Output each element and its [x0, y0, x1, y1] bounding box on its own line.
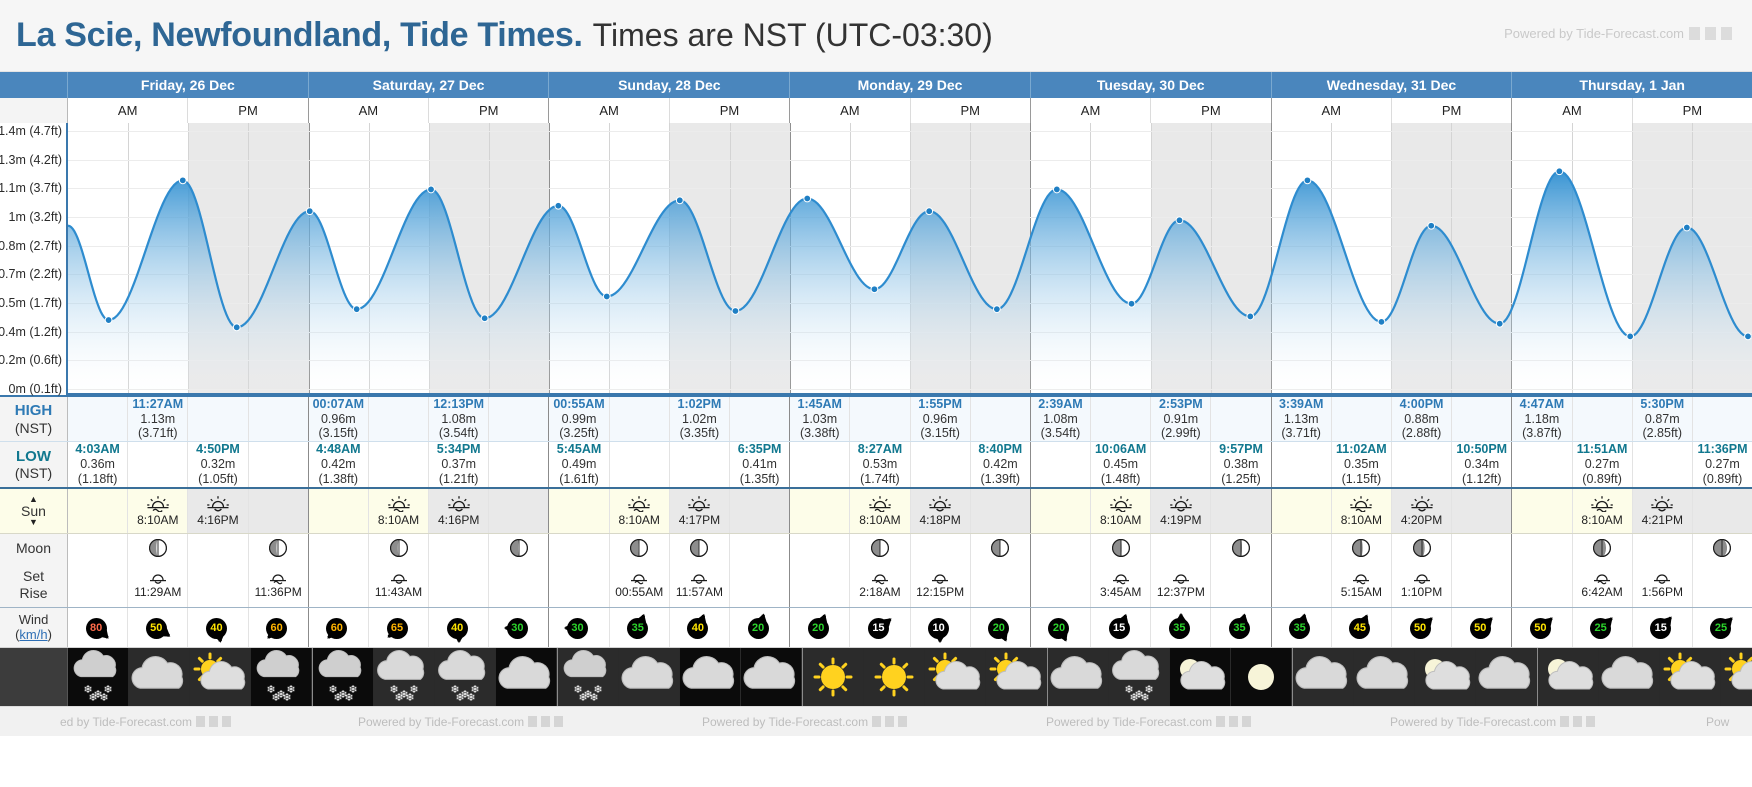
moon-phase-day-5: [1272, 534, 1513, 562]
moon-setrise-cell: 12:15PM: [911, 562, 971, 607]
moon-row-label: Moon: [0, 534, 68, 562]
day-header-5: Wednesday, 31 Dec: [1272, 72, 1513, 98]
wind-badge: 40: [195, 613, 241, 643]
sunrise-icon: [1348, 495, 1374, 512]
footer-credit-1: ed by Tide-Forecast.com: [60, 715, 231, 729]
moon-phase-icon: [509, 538, 529, 558]
tide-curve-plot: [68, 123, 1752, 395]
tide-time: 4:03AM: [75, 442, 119, 457]
tide-height-m: 1.08m: [1043, 412, 1078, 427]
moon-setrise-cell: 2:18AM: [850, 562, 910, 607]
sun-cell: [309, 489, 369, 533]
wind-speed-badge: 35: [1169, 618, 1190, 639]
wind-speed-badge: 20: [748, 618, 769, 639]
sun-cell: 8:10AM: [1332, 489, 1392, 533]
snow-icon: ❄❄❄❄❄: [313, 649, 373, 705]
low-tide-marker: [105, 317, 112, 324]
high-tide-day-4: 2:39AM1.08m(3.54ft)2:53PM0.91m(2.99ft): [1031, 397, 1272, 441]
moonrise-icon: [1349, 570, 1373, 585]
tide-time: 11:36PM: [1697, 442, 1747, 457]
wind-cell: 20: [790, 608, 850, 647]
moon-setrise-cell: 11:36PM: [249, 562, 308, 607]
sun-cell: [790, 489, 850, 533]
wind-cell: 60: [309, 608, 369, 647]
tide-height-ft: (2.99ft): [1161, 426, 1201, 441]
tide-time: 1:02PM: [678, 397, 722, 412]
day-header-row: Friday, 26 DecSaturday, 27 DecSunday, 28…: [0, 72, 1752, 98]
tide-time: 5:34PM: [437, 442, 481, 457]
moonset-icon: [928, 570, 952, 585]
wind-cell: 80: [68, 608, 128, 647]
snow-icon: ❄❄❄❄❄: [68, 649, 128, 705]
weather-cell: [1048, 648, 1109, 706]
tide-height-m: 0.49m: [562, 457, 597, 472]
cloud-icon: [619, 649, 679, 705]
sun-label-text: Sun: [21, 504, 46, 518]
moonset-icon: [146, 570, 170, 585]
cloud-icon: [1599, 649, 1659, 705]
moonset-icon: [1169, 570, 1193, 585]
moon-phase-cell: [730, 534, 789, 562]
low-tide-marker: [481, 315, 488, 322]
sun-cell: [1512, 489, 1572, 533]
ampm-cell-pm: PM: [911, 98, 1030, 123]
sun-cell: [1272, 489, 1332, 533]
low-tide-row: LOW (NST) 4:03AM0.36m(1.18ft)4:50PM0.32m…: [0, 442, 1752, 489]
moonset-icon: [1650, 570, 1674, 585]
low-tide-marker: [1247, 313, 1254, 320]
high-tide-row: HIGH (NST) 11:27AM1.13m(3.71ft)00:07AM0.…: [0, 395, 1752, 442]
weather-cell: ❄❄❄❄❄: [1109, 648, 1170, 706]
cloud-snow-icon: ❄❄❄❄❄: [374, 649, 434, 705]
moon-setrise-cell: [1693, 562, 1752, 607]
high-tide-label: HIGH (NST): [0, 397, 68, 441]
low-tide-marker: [603, 293, 610, 300]
weather-day-0: ❄❄❄❄❄❄❄❄❄❄: [68, 648, 313, 706]
day-header-6: Thursday, 1 Jan: [1512, 72, 1752, 98]
sun-cell: [1452, 489, 1511, 533]
tide-height-ft: (3.71ft): [1281, 426, 1321, 441]
sun-time: 8:10AM: [1341, 513, 1382, 527]
moon-setrise-cell: 5:15AM: [1332, 562, 1392, 607]
wind-cell: 35: [1211, 608, 1270, 647]
high-tide-marker: [926, 208, 933, 215]
wind-speed-badge: 20: [808, 618, 829, 639]
tide-time: 8:27AM: [858, 442, 902, 457]
low-tide-marker: [993, 306, 1000, 313]
wind-cell: 35: [610, 608, 670, 647]
tide-time: 10:50PM: [1456, 442, 1507, 457]
weather-cell: [190, 648, 251, 706]
moon-phase-cell: [610, 534, 670, 562]
wind-speed-badge: 50: [146, 618, 167, 639]
tide-height-ft: (2.85ft): [1642, 426, 1682, 441]
moon-phase-icon: [389, 538, 409, 558]
moon-phase-cell: [549, 534, 609, 562]
cloud-snow-icon: ❄❄❄❄❄: [1109, 649, 1169, 705]
moon-time: 11:29AM: [134, 585, 181, 599]
wind-badge: 45: [1338, 613, 1384, 643]
moonrise-icon: [627, 570, 651, 585]
weather-cell: ❄❄❄❄❄: [558, 648, 619, 706]
high-tide-cell: [369, 397, 429, 441]
high-tide-marker: [555, 202, 562, 209]
y-axis-tick-5: 0.7m (2.2ft): [0, 267, 62, 281]
wind-badge: 15: [1098, 613, 1144, 643]
sun-time: 8:10AM: [137, 513, 178, 527]
ampm-cell-pm: PM: [1151, 98, 1270, 123]
wind-cell: 25: [1693, 608, 1752, 647]
wind-day-1: 60654030: [309, 608, 550, 647]
moon-time: 2:18AM: [859, 585, 900, 599]
low-tide-cell: [790, 442, 850, 487]
weather-cell: [619, 648, 680, 706]
powered-by-text: Powered by Tide-Forecast.com: [1504, 26, 1684, 41]
wind-speed-badge: 10: [928, 618, 949, 639]
tide-height-m: 0.41m: [742, 457, 777, 472]
cloud-snow-icon: ❄❄❄❄❄: [435, 649, 495, 705]
sun-time: 8:10AM: [1581, 513, 1622, 527]
low-tide-marker: [1128, 300, 1135, 307]
wind-badge: 20: [737, 613, 783, 643]
ampm-group-6: AMPM: [1512, 98, 1752, 123]
low-tide-marker: [871, 286, 878, 293]
wind-badge: 30: [556, 613, 602, 643]
low-tide-cell: 10:50PM0.34m(1.12ft): [1452, 442, 1511, 487]
moon-phase-icon: [1111, 538, 1131, 558]
high-tide-day-5: 3:39AM1.13m(3.71ft)4:00PM0.88m(2.88ft): [1272, 397, 1513, 441]
cloud-icon: [741, 649, 801, 705]
moon-setrise-cell: 3:45AM: [1091, 562, 1151, 607]
svg-text:❄: ❄: [1140, 691, 1149, 704]
weather-day-2: ❄❄❄❄❄: [558, 648, 803, 706]
moon-phase-icon: [1412, 538, 1432, 558]
tide-time: 4:48AM: [316, 442, 360, 457]
tide-height-ft: (1.12ft): [1462, 472, 1502, 487]
tide-height-m: 0.37m: [441, 457, 476, 472]
weather-row-label: [0, 648, 68, 706]
wind-day-6: 50251525: [1512, 608, 1752, 647]
weather-cell: [1293, 648, 1354, 706]
wind-speed-badge: 15: [1109, 618, 1130, 639]
low-tide-cell: [911, 442, 971, 487]
wind-badge: 35: [1158, 613, 1204, 643]
high-tide-cell: [188, 397, 248, 441]
tide-height-ft: (3.35ft): [680, 426, 720, 441]
cloud-icon: [1048, 649, 1108, 705]
high-tide-marker: [428, 186, 435, 193]
moon-setrise-day-0: 11:29AM11:36PM: [68, 562, 309, 607]
sun-time: 4:19PM: [1160, 513, 1201, 527]
low-tide-cell: [1633, 442, 1693, 487]
weather-cell: ❄❄❄❄❄: [374, 648, 435, 706]
svg-text:❄: ❄: [578, 691, 587, 704]
low-tide-marker: [1745, 333, 1752, 340]
moon-phase-icon: [990, 538, 1010, 558]
moon-setrise-cell: 11:43AM: [369, 562, 429, 607]
tide-time: 10:06AM: [1095, 442, 1146, 457]
moon-phase-icon: [1351, 538, 1371, 558]
tide-height-m: 1.18m: [1525, 412, 1560, 427]
tide-height-m: 0.91m: [1163, 412, 1198, 427]
sun-cell: 8:10AM: [850, 489, 910, 533]
sunrise-icon: [145, 495, 171, 512]
sunrise-icon: [1108, 495, 1134, 512]
moon-time: 00:55AM: [615, 585, 663, 599]
tide-height-m: 0.36m: [80, 457, 115, 472]
sun-time: 4:21PM: [1642, 513, 1683, 527]
moon-phase-day-3: [790, 534, 1031, 562]
tide-time: 3:39AM: [1279, 397, 1323, 412]
sun-cell: [971, 489, 1030, 533]
weather-day-4: ❄❄❄❄❄: [1048, 648, 1293, 706]
ampm-cell-am: AM: [549, 98, 669, 123]
low-tide-cell: [1392, 442, 1452, 487]
tide-height-ft: (0.89ft): [1703, 472, 1743, 487]
moonset-icon: [387, 570, 411, 585]
moon-phase-day-1: [309, 534, 550, 562]
moonrise-icon: [868, 570, 892, 585]
moon-setrise-day-2: 00:55AM11:57AM: [549, 562, 790, 607]
ampm-group-2: AMPM: [549, 98, 790, 123]
wind-day-4: 20153535: [1031, 608, 1272, 647]
wind-label-main: Wind: [19, 613, 49, 628]
moon-setrise-cell: 1:10PM: [1392, 562, 1452, 607]
high-label-sub: (NST): [15, 420, 52, 436]
moon-time: 11:43AM: [375, 585, 422, 599]
moon-phase-icon: [870, 538, 890, 558]
moon-setrise-cell: [1211, 562, 1270, 607]
wind-cell: 50: [1512, 608, 1572, 647]
moon-time: 12:15PM: [916, 585, 964, 599]
tide-time: 00:07AM: [313, 397, 364, 412]
high-tide-marker: [1053, 186, 1060, 193]
svg-text:❄: ❄: [333, 691, 342, 704]
sun-day-6: 8:10AM4:21PM: [1512, 489, 1752, 533]
tide-height-m: 0.27m: [1585, 457, 1620, 472]
tide-height-ft: (1.48ft): [1101, 472, 1141, 487]
logo-square-icon: [1721, 27, 1732, 40]
tide-time: 4:47AM: [1520, 397, 1564, 412]
wind-speed-badge: 65: [387, 618, 408, 639]
moon-cloud-icon: [1170, 649, 1230, 705]
tide-height-m: 0.32m: [201, 457, 236, 472]
tide-height-m: 0.96m: [321, 412, 356, 427]
weather-cell: [1660, 648, 1721, 706]
moon-phase-cell: [1693, 534, 1752, 562]
moon-time: 11:36PM: [255, 585, 302, 599]
ampm-group-5: AMPM: [1272, 98, 1513, 123]
weather-cell: [803, 648, 864, 706]
low-tide-cell: [489, 442, 548, 487]
high-tide-cell: [971, 397, 1030, 441]
svg-text:❄: ❄: [282, 691, 291, 704]
ampm-cell-pm: PM: [670, 98, 789, 123]
wind-speed-badge: 30: [507, 618, 528, 639]
low-tide-day-2: 5:45AM0.49m(1.61ft)6:35PM0.41m(1.35ft): [549, 442, 790, 487]
wind-speed-badge: 20: [988, 618, 1009, 639]
high-tide-cell: 5:30PM0.87m(2.85ft): [1633, 397, 1693, 441]
moon-setrise-cell: [790, 562, 850, 607]
wind-cell: 25: [1573, 608, 1633, 647]
svg-text:❄: ❄: [589, 691, 598, 704]
ampm-group-4: AMPM: [1031, 98, 1272, 123]
y-axis-tick-4: 0.8m (2.7ft): [0, 239, 62, 253]
moon-phase-day-4: [1031, 534, 1272, 562]
cloud-icon: [1293, 649, 1353, 705]
high-tide-marker: [1683, 224, 1690, 231]
wind-speed-badge: 30: [567, 618, 588, 639]
high-tide-marker: [179, 177, 186, 184]
high-tide-cell: [249, 397, 308, 441]
y-axis-tick-9: 0m (0.1ft): [9, 382, 63, 396]
moon-phase-day-6: [1512, 534, 1752, 562]
sun-cell: [549, 489, 609, 533]
low-tide-cell: 8:27AM0.53m(1.74ft): [850, 442, 910, 487]
triangle-down-icon: ▼: [29, 518, 38, 527]
weather-cell: ❄❄❄❄❄: [251, 648, 312, 706]
wind-units: (km/h): [15, 628, 52, 643]
high-tide-day-2: 00:55AM0.99m(3.25ft)1:02PM1.02m(3.35ft): [549, 397, 790, 441]
moon-time: 3:45AM: [1100, 585, 1141, 599]
sun-row-label: ▲ Sun ▼: [0, 489, 68, 533]
wind-badge: 10: [917, 613, 963, 643]
ampm-cell-am: AM: [790, 98, 910, 123]
sun-time: 4:16PM: [438, 513, 479, 527]
wind-speed-badge: 40: [687, 618, 708, 639]
moon-phase-icon: [689, 538, 709, 558]
sun-cell: 4:18PM: [911, 489, 971, 533]
weather-day-1: ❄❄❄❄❄❄❄❄❄❄❄❄❄❄❄: [313, 648, 558, 706]
moon-setrise-cell: 11:29AM: [128, 562, 188, 607]
high-tide-cell: 2:53PM0.91m(2.99ft): [1151, 397, 1211, 441]
wind-cell: 30: [489, 608, 548, 647]
sun-cell: 8:10AM: [1573, 489, 1633, 533]
wind-speed-badge: 35: [627, 618, 648, 639]
high-tide-cell: 1:55PM0.96m(3.15ft): [911, 397, 971, 441]
wind-cell: 15: [850, 608, 910, 647]
moon-setrise-day-6: 6:42AM1:56PM: [1512, 562, 1752, 607]
tide-height-m: 0.27m: [1705, 457, 1740, 472]
day-header-3: Monday, 29 Dec: [790, 72, 1031, 98]
high-tide-cell: [1452, 397, 1511, 441]
sunset-icon: [1409, 495, 1435, 512]
y-axis-tick-6: 0.5m (1.7ft): [0, 296, 62, 310]
wind-cell: 60: [249, 608, 308, 647]
low-tide-label: LOW (NST): [0, 442, 68, 487]
sun-cloud-icon: [190, 649, 250, 705]
wind-row-label: Wind (km/h): [0, 608, 68, 647]
tide-time: 1:55PM: [918, 397, 962, 412]
wind-badge: 40: [436, 613, 482, 643]
sun-icon: [803, 649, 863, 705]
moon-setrise-cell: [1452, 562, 1511, 607]
tide-time: 12:13PM: [433, 397, 484, 412]
wind-cell: 15: [1091, 608, 1151, 647]
wind-cell: 35: [1151, 608, 1211, 647]
weather-cell: [1599, 648, 1660, 706]
ampm-cell-am: AM: [1031, 98, 1151, 123]
footer-credit-6: Pow: [1706, 715, 1729, 729]
page-header: La Scie, Newfoundland, Tide Times. Times…: [0, 0, 1752, 72]
ampm-cell-pm: PM: [429, 98, 548, 123]
tide-height-m: 1.13m: [140, 412, 175, 427]
tide-height-m: 1.02m: [682, 412, 717, 427]
moon-phase-icon: [1712, 538, 1732, 558]
ampm-group-0: AMPM: [68, 98, 309, 123]
wind-cell: 65: [369, 608, 429, 647]
tide-height-m: 1.08m: [441, 412, 476, 427]
tide-height-ft: (3.25ft): [559, 426, 599, 441]
moon-phase-cell: [1573, 534, 1633, 562]
moon-time: 1:10PM: [1401, 585, 1442, 599]
moon-phase-cell: [369, 534, 429, 562]
moon-setrise-cell: [971, 562, 1030, 607]
wind-day-5: 35455050: [1272, 608, 1513, 647]
ampm-group-3: AMPM: [790, 98, 1031, 123]
sun-row: ▲ Sun ▼ 8:10AM4:16PM8:10AM4:16PM8:10AM4:…: [0, 489, 1752, 534]
high-tide-cell: [68, 397, 128, 441]
sun-cloud-icon: [986, 649, 1046, 705]
low-tide-day-0: 4:03AM0.36m(1.18ft)4:50PM0.32m(1.05ft): [68, 442, 309, 487]
moon-phase-cell: [911, 534, 971, 562]
tide-time: 4:00PM: [1400, 397, 1444, 412]
svg-text:❄: ❄: [405, 691, 414, 704]
y-axis-tick-2: 1.1m (3.7ft): [0, 181, 62, 195]
low-tide-cell: [610, 442, 670, 487]
wind-badge: 20: [1037, 613, 1083, 643]
moon-icon: [1231, 649, 1291, 705]
wind-badge: 35: [1278, 613, 1324, 643]
tide-height-ft: (3.71ft): [138, 426, 178, 441]
sun-cell: 8:10AM: [610, 489, 670, 533]
tide-height-m: 1.03m: [802, 412, 837, 427]
sun-day-4: 8:10AM4:19PM: [1031, 489, 1272, 533]
page-subtitle: Times are NST (UTC-03:30): [593, 17, 993, 54]
wind-badge: 80: [75, 613, 121, 643]
moon-phase-cell: [128, 534, 188, 562]
high-tide-cell: [1091, 397, 1151, 441]
sun-cell: [489, 489, 548, 533]
weather-row: ❄❄❄❄❄❄❄❄❄❄❄❄❄❄❄❄❄❄❄❄❄❄❄❄❄❄❄❄❄❄❄❄❄❄❄: [0, 648, 1752, 706]
low-tide-cell: 11:36PM0.27m(0.89ft): [1693, 442, 1752, 487]
wind-day-3: 20151020: [790, 608, 1031, 647]
tide-height-ft: (3.87ft): [1522, 426, 1562, 441]
high-tide-marker: [676, 197, 683, 204]
wind-badge: 25: [1699, 613, 1745, 643]
wind-unit-link[interactable]: km/h: [19, 627, 47, 642]
weather-cell: [1231, 648, 1292, 706]
wind-badge: 15: [857, 613, 903, 643]
moon-setrise-day-3: 2:18AM12:15PM: [790, 562, 1031, 607]
wind-badge: 20: [797, 613, 843, 643]
tide-time: 2:39AM: [1038, 397, 1082, 412]
moon-phase-cell: [1633, 534, 1693, 562]
moonset-icon: [1410, 570, 1434, 585]
ampm-group-1: AMPM: [309, 98, 550, 123]
wind-speed-badge: 15: [1650, 618, 1671, 639]
tide-time: 9:57PM: [1219, 442, 1263, 457]
svg-text:❄: ❄: [1129, 691, 1138, 704]
wind-speed-badge: 40: [206, 618, 227, 639]
moon-phase-icon: [629, 538, 649, 558]
axis-corner: [0, 72, 68, 98]
high-tide-cell: [1573, 397, 1633, 441]
svg-text:❄: ❄: [271, 691, 280, 704]
wind-badge: 50: [135, 613, 181, 643]
wind-badge: 35: [1218, 613, 1264, 643]
tide-height-ft: (3.38ft): [800, 426, 840, 441]
